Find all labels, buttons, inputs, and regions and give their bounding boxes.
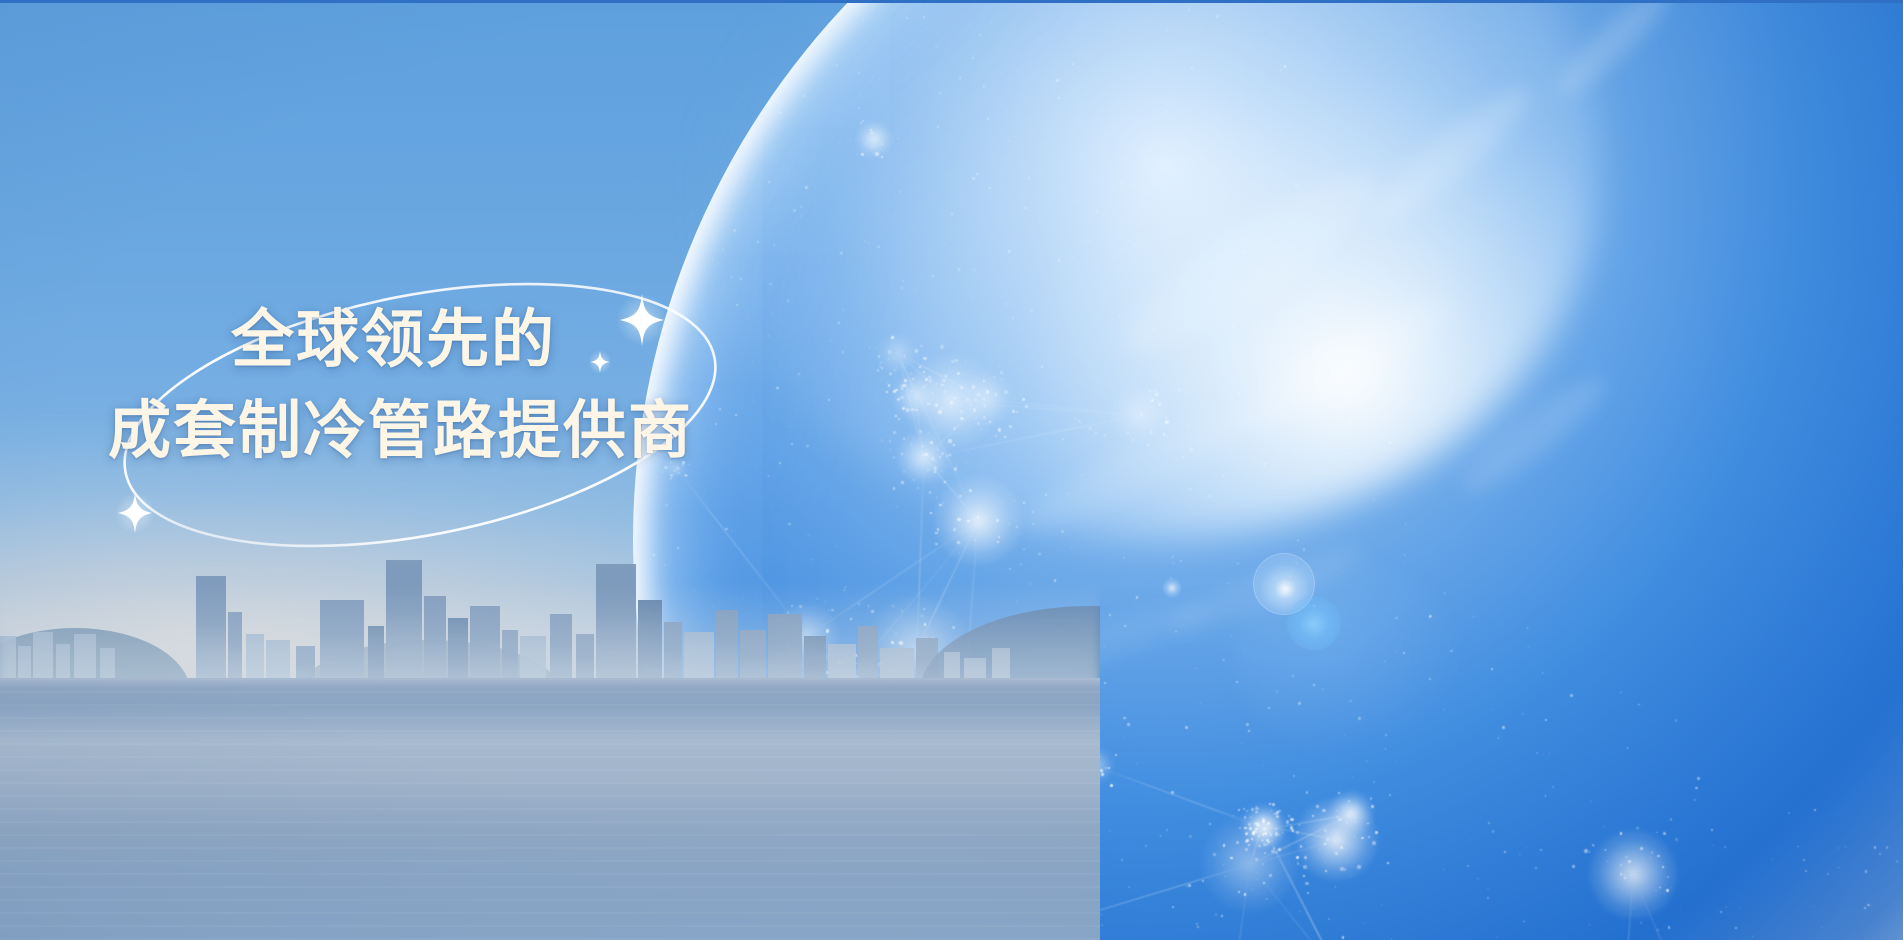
hero-headline: 全球领先的 成套制冷管路提供商 <box>108 300 693 471</box>
lens-flare-orb-tiny <box>1162 578 1182 598</box>
lens-flare-orb-small <box>1287 596 1341 650</box>
headline-line-2: 成套制冷管路提供商 <box>108 391 693 472</box>
sea-water <box>0 678 1100 940</box>
hero-banner: 全球领先的 成套制冷管路提供商 <box>0 0 1903 940</box>
city-photo-band <box>0 520 1100 940</box>
headline-line-1: 全球领先的 <box>231 300 693 381</box>
top-accent-rule <box>0 0 1903 3</box>
